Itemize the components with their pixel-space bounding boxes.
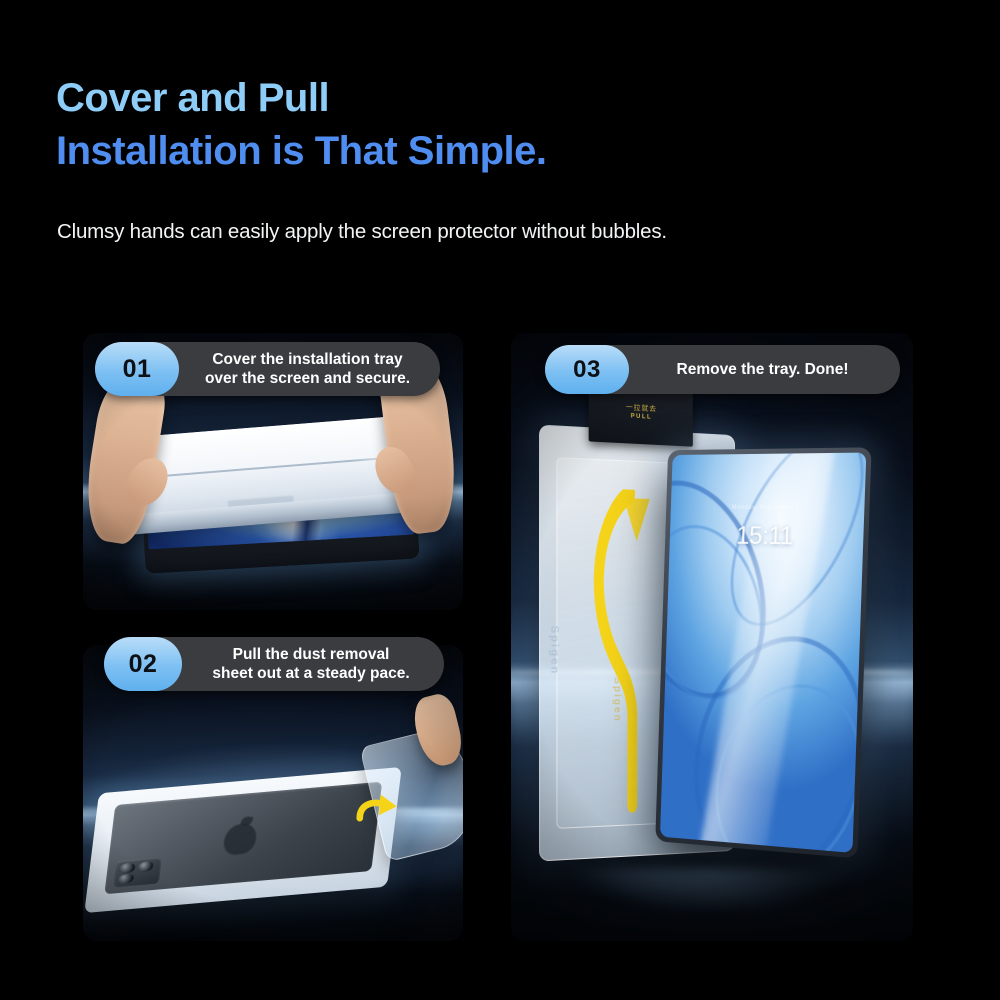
tablet-screen: Monday, September 2 15:11	[660, 452, 866, 853]
step-caption-02: Pull the dust removal sheet out at a ste…	[182, 645, 444, 684]
step-number-badge-03: 03	[545, 345, 629, 394]
finished-tablet: Monday, September 2 15:11	[655, 447, 871, 858]
tray-brand-label: Spigen	[548, 626, 560, 676]
step-caption-01: Cover the installation tray over the scr…	[179, 350, 440, 389]
step-number-badge-01: 01	[95, 342, 179, 396]
headline-line-1: Cover and Pull	[56, 72, 936, 125]
apple-logo-icon	[222, 823, 258, 856]
camera-module-icon	[113, 857, 162, 888]
camera-lens-icon	[137, 861, 154, 872]
step-caption-03: Remove the tray. Done!	[629, 360, 900, 379]
step-bar-01: 01 Cover the installation tray over the …	[95, 342, 440, 396]
step-bar-02: 02 Pull the dust removal sheet out at a …	[104, 637, 444, 691]
promo-page: Cover and Pull Installation is That Simp…	[0, 0, 1000, 1000]
camera-lens-icon	[117, 874, 134, 885]
lockscreen-time: 15:11	[669, 522, 863, 553]
camera-lens-icon	[119, 863, 136, 874]
ipad-rear-shell	[104, 782, 381, 894]
lockscreen-date: Monday, September 2	[670, 504, 864, 510]
headline-line-2: Installation is That Simple.	[56, 125, 936, 178]
pull-direction-arrow-icon	[349, 793, 406, 829]
page-subtitle: Clumsy hands can easily apply the screen…	[57, 220, 667, 244]
step-image-panel-03: 一拉就去 PULL Spigen Spigen Monday, Septembe…	[511, 333, 913, 941]
page-headline: Cover and Pull Installation is That Simp…	[56, 72, 936, 178]
step-number-badge-02: 02	[104, 637, 182, 691]
step-bar-03: 03 Remove the tray. Done!	[545, 345, 900, 394]
tab-label-en: PULL	[631, 413, 652, 420]
floor-reflection	[551, 868, 873, 929]
